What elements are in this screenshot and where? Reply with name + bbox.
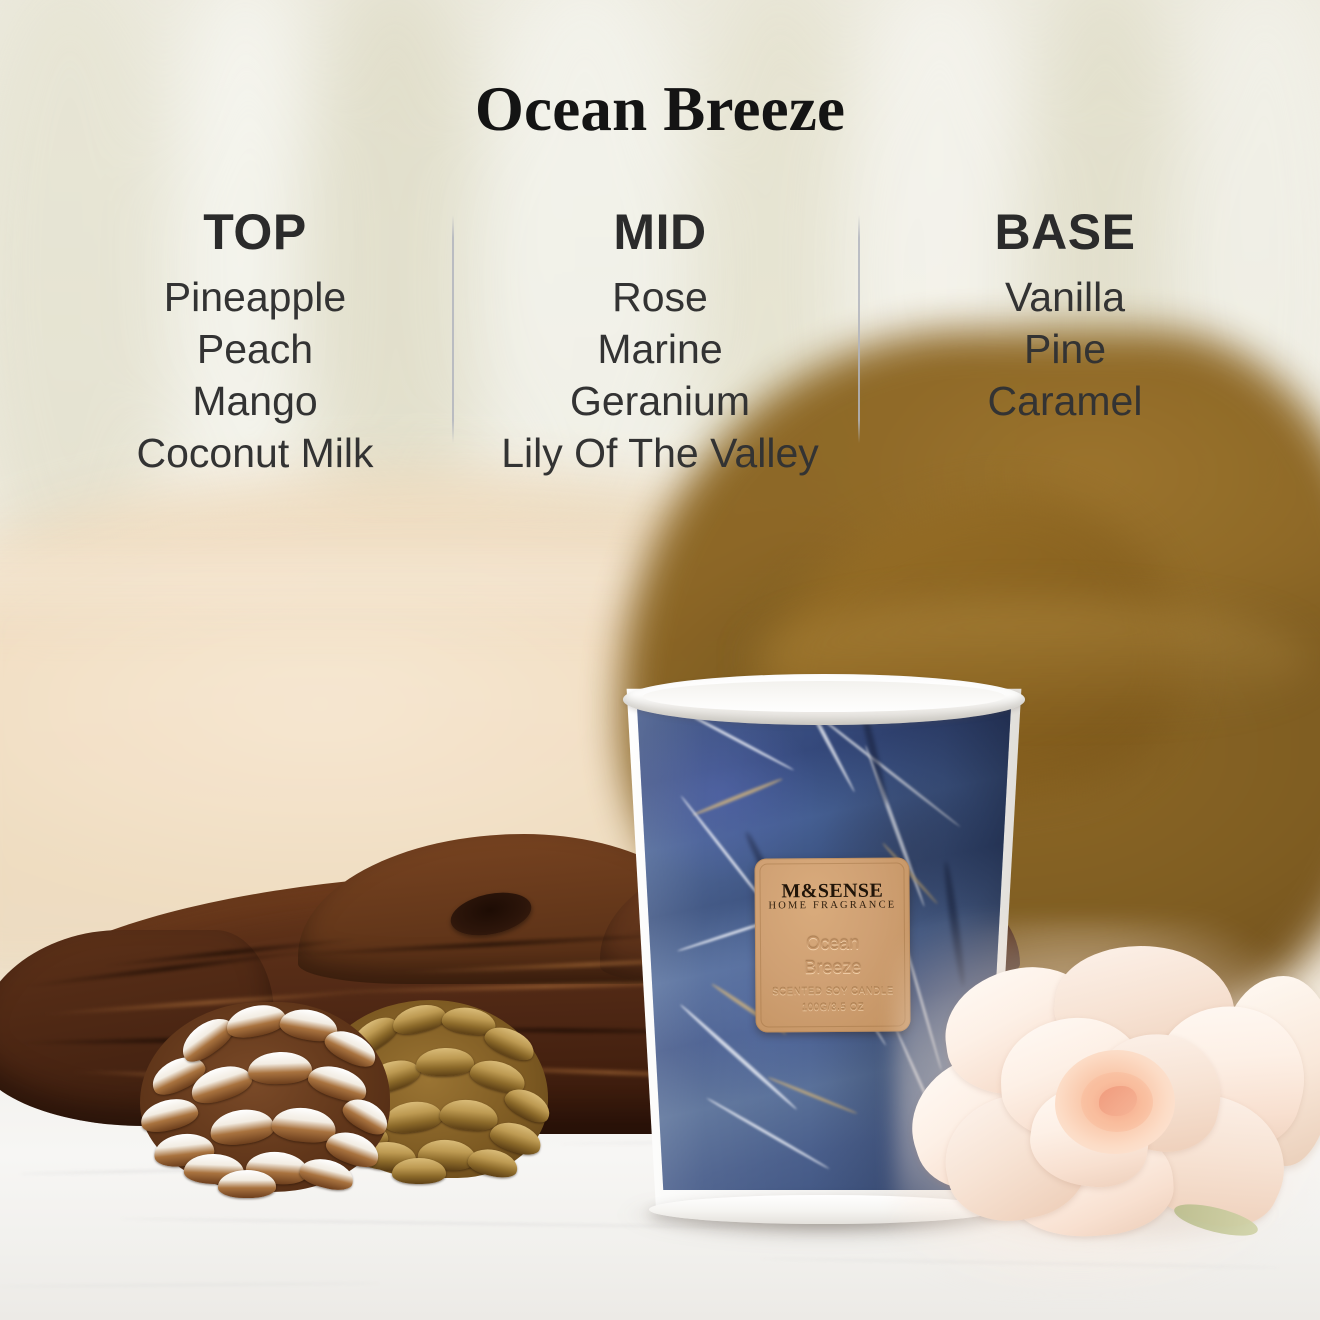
note-list-mid: Rose Marine Geranium Lily Of The Valley [455,271,865,479]
label-brand-name: M&SENSE [754,880,910,901]
note-column-base: BASE Vanilla Pine Caramel [865,206,1265,427]
note-item: Pine [865,323,1265,375]
note-item: Coconut Milk [55,427,455,479]
label-brand-tagline: HOME FRAGRANCE [754,900,909,912]
note-list-top: Pineapple Peach Mango Coconut Milk [55,271,455,479]
frosted-pinecone [140,1002,390,1192]
candle-rim-inner [643,681,1004,712]
label-scent-line-1: Ocean [806,933,859,953]
product-scene: Ocean Breeze TOP Pineapple Peach Mango C… [0,0,1320,1320]
note-item: Caramel [865,375,1265,427]
note-item: Geranium [455,375,865,427]
note-item: Mango [55,375,455,427]
label-product-type: SCENTED SOY CANDLE [772,985,894,997]
note-item: Marine [455,323,865,375]
page-title: Ocean Breeze [0,78,1320,141]
note-item: Rose [455,271,865,323]
fragrance-notes-section: TOP Pineapple Peach Mango Coconut Milk M… [0,206,1320,476]
note-heading-mid: MID [455,206,865,259]
note-column-top: TOP Pineapple Peach Mango Coconut Milk [55,206,455,479]
note-list-base: Vanilla Pine Caramel [865,271,1265,427]
product-label: M&SENSE HOME FRAGRANCE Ocean Breeze SCEN… [754,857,911,1032]
note-item: Lily Of The Valley [455,427,865,479]
note-item: Peach [55,323,455,375]
note-column-mid: MID Rose Marine Geranium Lily Of The Val… [455,206,865,479]
label-product-details: SCENTED SOY CANDLE 100G/3.5 OZ [755,983,911,1016]
note-divider-left [452,215,454,443]
note-item: Vanilla [865,271,1265,323]
label-scent-name: Ocean Breeze [755,930,911,980]
note-item: Pineapple [55,271,455,323]
note-heading-base: BASE [865,206,1265,259]
blush-rose [905,930,1320,1280]
note-divider-right [858,215,860,443]
label-product-size: 100G/3.5 OZ [801,1002,864,1013]
note-heading-top: TOP [55,206,455,259]
label-scent-line-2: Breeze [804,957,861,977]
